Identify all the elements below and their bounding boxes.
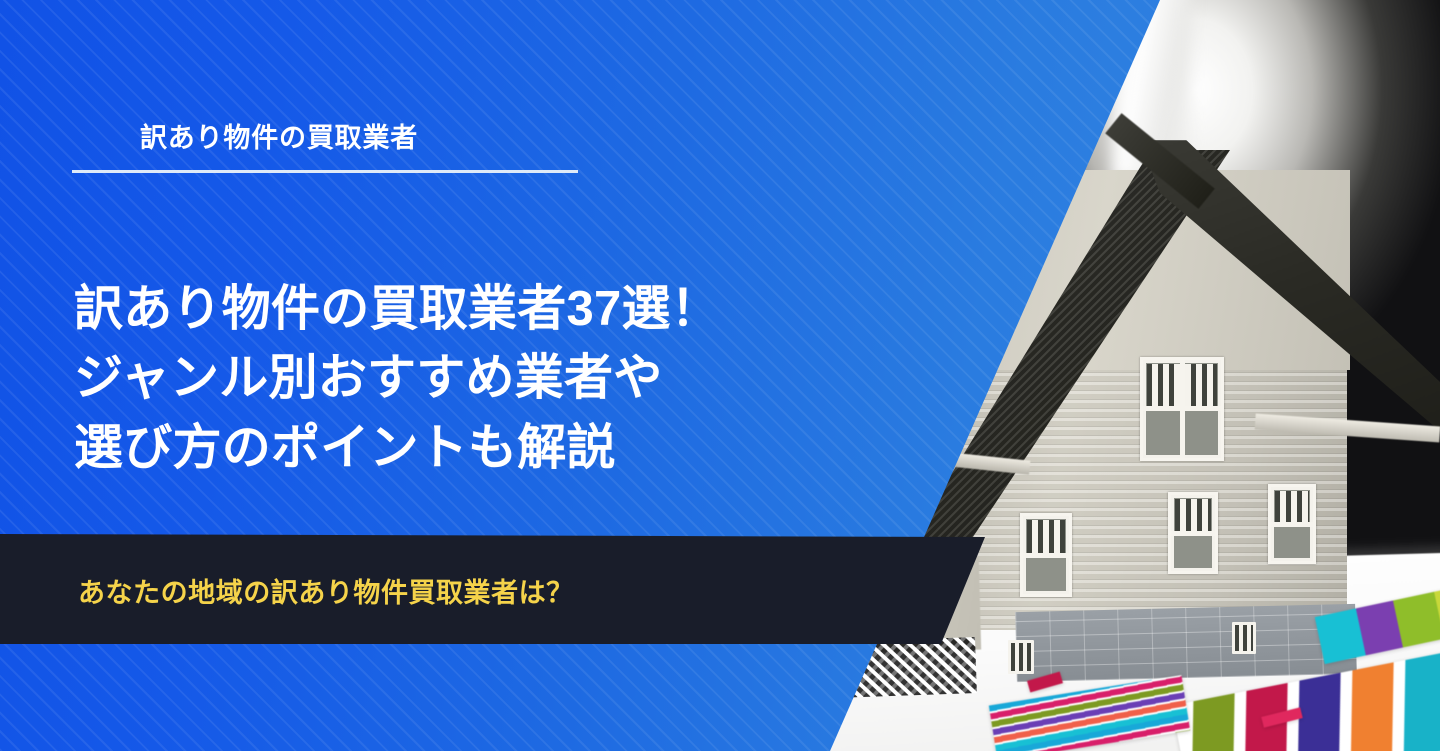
category-underline-rule xyxy=(72,170,578,173)
window-vertical-split xyxy=(1180,360,1185,458)
house-window-upper xyxy=(1140,357,1224,461)
window-cross-rail xyxy=(1023,553,1069,558)
headline-line-3: 選び方のポイントも解説 xyxy=(74,414,864,484)
category-label: 訳あり物件の買取業者 xyxy=(140,122,418,154)
headline-line-2: ジャンル別おすすめ業者や xyxy=(74,344,864,414)
window-mullions xyxy=(1175,499,1211,532)
hero-banner: 訳あり物件の買取業者 訳あり物件の買取業者37選！ ジャンル別おすすめ業者や 選… xyxy=(0,0,1440,751)
window-cross-rail xyxy=(1271,522,1313,527)
house-window-lower-middle xyxy=(1168,492,1218,574)
window-mullions xyxy=(1275,491,1309,524)
vent-slats xyxy=(1235,625,1253,651)
house-foundation xyxy=(1015,604,1357,682)
foundation-vent-left xyxy=(1008,640,1034,674)
headline-line-1: 訳あり物件の買取業者37選！ xyxy=(74,275,864,345)
window-cross-rail xyxy=(1171,531,1215,536)
house-window-lower-left xyxy=(1020,513,1072,597)
window-mullions xyxy=(1027,520,1065,554)
foundation-vent-right xyxy=(1232,622,1256,654)
vent-slats xyxy=(1011,643,1031,671)
bottom-cta-text: あなたの地域の訳あり物件買取業者は？ xyxy=(78,571,574,610)
house-window-lower-right xyxy=(1268,484,1316,564)
page-title: 訳あり物件の買取業者37選！ ジャンル別おすすめ業者や 選び方のポイントも解説 xyxy=(74,275,864,484)
